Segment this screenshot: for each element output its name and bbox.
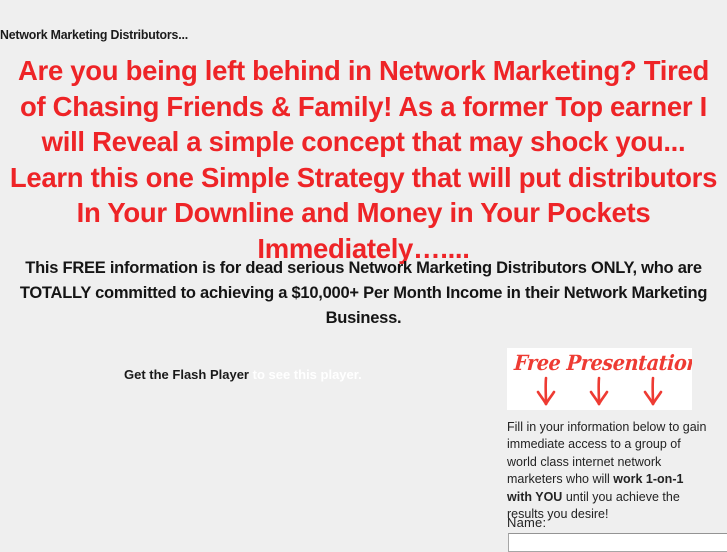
subheading-text: This FREE information is for dead seriou… (0, 256, 727, 331)
down-arrow-icon (586, 376, 612, 408)
flash-notice-tail: to see this player. (249, 367, 362, 382)
down-arrow-icon (640, 376, 666, 408)
page-title: Network Marketing Distributors... (0, 27, 188, 42)
flash-player-notice: Get the Flash Player to see this player. (124, 367, 362, 383)
name-field-label: Name: (507, 515, 546, 530)
promo-description: Fill in your information below to gain i… (507, 419, 707, 523)
free-presentation-title: Free Presentation (513, 350, 673, 376)
name-input[interactable] (508, 533, 727, 552)
landing-page: Network Marketing Distributors... Are yo… (0, 0, 727, 545)
down-arrow-icon (533, 376, 559, 408)
get-flash-player-link[interactable]: Get the Flash Player (124, 367, 249, 382)
main-headline: Are you being left behind in Network Mar… (0, 53, 727, 266)
arrow-row (507, 376, 692, 408)
free-presentation-banner: Free Presentation (507, 348, 692, 410)
